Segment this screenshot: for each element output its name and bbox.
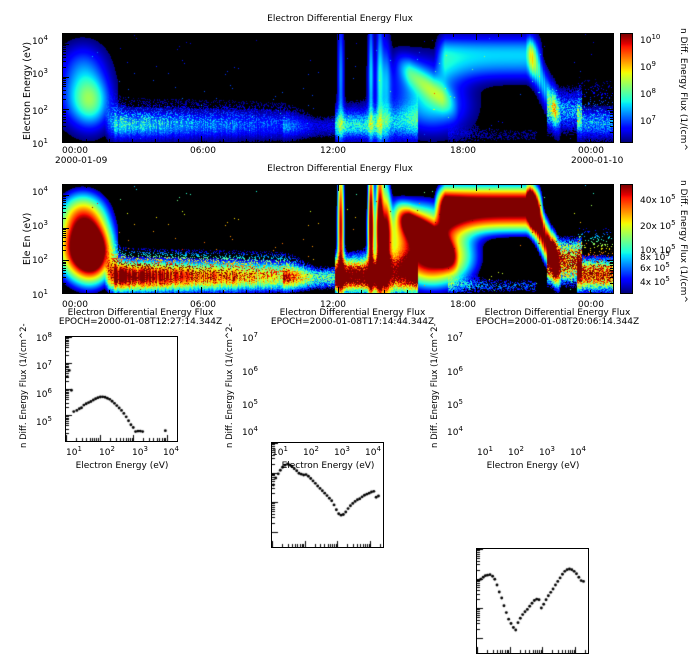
- spectrum-3-subtitle: EPOCH=2000-01-08T20:06:14.344Z: [455, 317, 660, 327]
- axis-tick: [476, 185, 477, 191]
- axis-tick: [361, 34, 362, 37]
- axis-tick: [607, 142, 613, 143]
- axis-tick: [610, 229, 613, 230]
- axis-tick: [610, 237, 613, 238]
- spectrum-3-xtick-3: 103: [539, 445, 555, 458]
- axis-tick: [610, 263, 613, 264]
- spectrum-3-ytick-4: 104: [447, 425, 463, 438]
- axis-tick: [63, 235, 66, 236]
- axis-tick: [610, 122, 613, 123]
- axis-tick: [63, 218, 66, 219]
- axis-tick: [109, 139, 110, 142]
- axis-tick: [338, 136, 339, 142]
- axis-tick: [610, 86, 613, 87]
- spectrum-1-xlabel: Electron Energy (eV): [62, 461, 182, 471]
- spectrum-3-ytick-6: 106: [447, 365, 463, 378]
- axis-tick: [610, 205, 613, 206]
- spectrum-3-panel[interactable]: [476, 548, 589, 654]
- axis-tick: [610, 235, 613, 236]
- axis-tick: [246, 185, 247, 188]
- axis-tick: [453, 290, 454, 293]
- mid-ytick-2: 102: [32, 253, 48, 266]
- spectrum-2-ytick-5: 105: [242, 398, 258, 411]
- axis-tick: [315, 139, 316, 142]
- axis-tick: [269, 34, 270, 37]
- axis-tick: [610, 273, 613, 274]
- axis-tick: [476, 136, 477, 142]
- axis-tick: [610, 277, 613, 278]
- spectrum-1-canvas[interactable]: [66, 337, 177, 441]
- axis-tick: [338, 287, 339, 293]
- axis-tick: [63, 78, 66, 79]
- axis-tick: [338, 34, 339, 40]
- axis-tick: [610, 114, 613, 115]
- axis-tick: [201, 34, 202, 40]
- spectrum-1-ylabel: n Diff. Energy Flux (1/(cm^2-: [19, 323, 29, 448]
- axis-tick: [86, 139, 87, 142]
- axis-tick: [63, 250, 66, 251]
- axis-tick: [63, 273, 66, 274]
- axis-tick: [544, 290, 545, 293]
- top-xdate-left: 2000-01-09: [55, 156, 107, 166]
- axis-tick: [63, 237, 66, 238]
- axis-tick: [63, 293, 69, 294]
- axis-tick: [132, 34, 133, 37]
- axis-tick: [476, 287, 477, 293]
- top-ytick-4: 104: [32, 34, 48, 47]
- axis-tick: [407, 34, 408, 37]
- axis-tick: [613, 34, 614, 40]
- axis-tick: [544, 34, 545, 37]
- axis-tick: [63, 202, 66, 203]
- top-colorbar-canvas: [621, 34, 632, 142]
- axis-tick: [610, 47, 613, 48]
- axis-tick: [544, 139, 545, 142]
- axis-tick: [430, 290, 431, 293]
- spectrum-1-xtick-1: 101: [66, 445, 82, 458]
- top-xdate-right: 2000-01-10: [571, 156, 623, 166]
- axis-tick: [63, 277, 66, 278]
- spectrum-1-xtick-2: 102: [99, 445, 115, 458]
- axis-tick: [610, 84, 613, 85]
- axis-tick: [610, 265, 613, 266]
- axis-tick: [607, 195, 613, 196]
- axis-tick: [607, 44, 613, 45]
- spectrum-2-ytick-4: 104: [242, 425, 258, 438]
- axis-tick: [155, 290, 156, 293]
- axis-tick: [384, 290, 385, 293]
- spectrum-2-canvas[interactable]: [272, 443, 383, 547]
- middle-spectrogram-panel[interactable]: [62, 184, 614, 294]
- spectrum-3-xtick-4: 104: [570, 445, 586, 458]
- axis-tick: [567, 185, 568, 188]
- axis-tick: [63, 229, 66, 230]
- axis-tick: [63, 241, 66, 242]
- spectrum-2-xlabel: Electron Energy (eV): [268, 461, 388, 471]
- axis-tick: [63, 51, 66, 52]
- axis-tick: [63, 265, 66, 266]
- axis-tick: [384, 185, 385, 188]
- axis-tick: [178, 34, 179, 37]
- axis-tick: [521, 139, 522, 142]
- axis-tick: [315, 185, 316, 188]
- axis-tick: [610, 54, 613, 55]
- axis-tick: [63, 82, 66, 83]
- axis-tick: [610, 57, 613, 58]
- axis-tick: [63, 47, 66, 48]
- axis-tick: [498, 185, 499, 188]
- axis-tick: [476, 34, 477, 40]
- axis-tick: [607, 260, 613, 261]
- mid-ytick-4: 104: [32, 185, 48, 198]
- axis-tick: [590, 34, 591, 37]
- top-xtick-0: 00:00: [62, 146, 88, 156]
- axis-tick: [246, 290, 247, 293]
- axis-tick: [223, 185, 224, 188]
- axis-tick: [610, 132, 613, 133]
- top-xtick-2: 12:00: [320, 146, 346, 156]
- axis-tick: [610, 78, 613, 79]
- mid-cbtick-6: 6x 105: [640, 261, 670, 274]
- axis-tick: [384, 34, 385, 37]
- axis-tick: [63, 61, 66, 62]
- spectrum-1-panel[interactable]: [65, 336, 178, 442]
- axis-tick: [63, 112, 66, 113]
- middle-spectrogram-canvas[interactable]: [63, 185, 613, 293]
- top-ytick-1: 101: [32, 137, 48, 150]
- axis-tick: [246, 139, 247, 142]
- axis-tick: [498, 290, 499, 293]
- top-panel-ylabel: Electron Energy (eV): [22, 42, 33, 140]
- axis-tick: [610, 45, 613, 46]
- axis-tick: [63, 205, 66, 206]
- axis-tick: [63, 262, 66, 263]
- axis-tick: [610, 119, 613, 120]
- spectrum-2-ytick-6: 106: [242, 365, 258, 378]
- spectrum-1-xtick-3: 103: [132, 445, 148, 458]
- axis-tick: [315, 290, 316, 293]
- axis-tick: [63, 270, 66, 271]
- middle-colorbar[interactable]: [620, 184, 633, 294]
- axis-tick: [63, 111, 66, 112]
- axis-tick: [613, 185, 614, 191]
- axis-tick: [63, 260, 69, 261]
- axis-tick: [109, 34, 110, 37]
- axis-tick: [610, 212, 613, 213]
- axis-tick: [430, 185, 431, 188]
- axis-tick: [63, 136, 64, 142]
- axis-tick: [292, 185, 293, 188]
- axis-tick: [63, 90, 66, 91]
- axis-tick: [610, 231, 613, 232]
- top-cbtick-10: 1010: [640, 33, 660, 46]
- axis-tick: [610, 218, 613, 219]
- top-xtick-3: 18:00: [450, 146, 476, 156]
- axis-tick: [338, 185, 339, 191]
- axis-tick: [610, 51, 613, 52]
- axis-tick: [63, 57, 66, 58]
- axis-tick: [610, 196, 613, 197]
- axis-tick: [610, 67, 613, 68]
- axis-tick: [521, 185, 522, 188]
- axis-tick: [63, 200, 66, 201]
- axis-tick: [63, 287, 64, 293]
- spectrum-2-xtick-2: 102: [303, 445, 319, 458]
- axis-tick: [607, 109, 613, 110]
- spectrum-3-xlabel: Electron Energy (eV): [473, 461, 593, 471]
- axis-tick: [610, 250, 613, 251]
- axis-tick: [63, 114, 66, 115]
- axis-tick: [63, 198, 66, 199]
- axis-tick: [63, 212, 66, 213]
- axis-tick: [109, 290, 110, 293]
- axis-tick: [521, 34, 522, 37]
- axis-tick: [590, 139, 591, 142]
- axis-tick: [132, 139, 133, 142]
- axis-tick: [63, 109, 69, 110]
- axis-tick: [269, 185, 270, 188]
- spectrum-3-xtick-1: 101: [477, 445, 493, 458]
- spectrum-1-ytick-6: 106: [36, 387, 52, 400]
- axis-tick: [610, 80, 613, 81]
- axis-tick: [63, 142, 69, 143]
- axis-tick: [63, 44, 69, 45]
- axis-tick: [610, 283, 613, 284]
- top-cbtick-8: 108: [640, 87, 656, 100]
- axis-tick: [63, 99, 66, 100]
- spectrum-1-ytick-8: 108: [36, 331, 52, 344]
- axis-tick: [63, 117, 66, 118]
- spectrum-3-ytick-5: 105: [447, 398, 463, 411]
- axis-tick: [63, 268, 66, 269]
- axis-tick: [246, 34, 247, 37]
- axis-tick: [361, 185, 362, 188]
- top-spectrogram-panel[interactable]: [62, 33, 614, 143]
- axis-tick: [223, 290, 224, 293]
- axis-tick: [223, 139, 224, 142]
- axis-tick: [607, 228, 613, 229]
- axis-tick: [610, 90, 613, 91]
- mid-cbtick-40: 40x 105: [640, 193, 676, 206]
- axis-tick: [610, 270, 613, 271]
- axis-tick: [63, 132, 66, 133]
- axis-tick: [292, 34, 293, 37]
- axis-tick: [155, 185, 156, 188]
- axis-tick: [315, 34, 316, 37]
- axis-tick: [361, 290, 362, 293]
- top-ytick-3: 103: [32, 67, 48, 80]
- axis-tick: [63, 231, 66, 232]
- axis-tick: [109, 185, 110, 188]
- axis-tick: [361, 139, 362, 142]
- axis-tick: [63, 196, 66, 197]
- axis-tick: [63, 195, 69, 196]
- axis-tick: [86, 185, 87, 188]
- spectrum-1-subtitle: EPOCH=2000-01-08T12:27:14.344Z: [38, 317, 243, 327]
- axis-tick: [590, 185, 591, 188]
- axis-tick: [610, 233, 613, 234]
- axis-tick: [610, 99, 613, 100]
- axis-tick: [567, 34, 568, 37]
- spectrum-2-ylabel: n Diff. Energy Flux (1/(cm^2-: [225, 323, 235, 448]
- axis-tick: [430, 139, 431, 142]
- axis-tick: [63, 54, 66, 55]
- axis-tick: [63, 245, 66, 246]
- axis-tick: [613, 287, 614, 293]
- axis-tick: [63, 283, 66, 284]
- axis-tick: [63, 122, 66, 123]
- mid-cbtick-4: 4x 105: [640, 275, 670, 288]
- axis-tick: [610, 198, 613, 199]
- mid-ytick-1: 101: [32, 288, 48, 301]
- middle-colorbar-canvas: [621, 185, 632, 293]
- axis-tick: [63, 228, 69, 229]
- axis-tick: [132, 290, 133, 293]
- axis-tick: [610, 126, 613, 127]
- axis-tick: [63, 80, 66, 81]
- axis-tick: [63, 84, 66, 85]
- axis-tick: [63, 94, 66, 95]
- axis-tick: [178, 290, 179, 293]
- axis-tick: [498, 34, 499, 37]
- top-colorbar[interactable]: [620, 33, 633, 143]
- axis-tick: [178, 185, 179, 188]
- spectrum-1-ytick-5: 105: [36, 415, 52, 428]
- axis-tick: [223, 34, 224, 37]
- axis-tick: [63, 86, 66, 87]
- axis-tick: [610, 61, 613, 62]
- axis-tick: [521, 290, 522, 293]
- top-colorbar-label: n Diff. Energy Flux (1/(cm^: [678, 28, 688, 151]
- axis-tick: [613, 136, 614, 142]
- axis-tick: [610, 241, 613, 242]
- axis-tick: [453, 139, 454, 142]
- axis-tick: [607, 293, 613, 294]
- axis-tick: [384, 139, 385, 142]
- spectrum-3-ylabel: n Diff. Energy Flux (1/(cm^2-: [430, 323, 440, 448]
- axis-tick: [63, 119, 66, 120]
- axis-tick: [610, 200, 613, 201]
- axis-tick: [269, 139, 270, 142]
- axis-tick: [178, 139, 179, 142]
- spectrum-3-ytick-7: 107: [447, 331, 463, 344]
- spectrum-1-xtick-4: 104: [163, 445, 179, 458]
- axis-tick: [610, 245, 613, 246]
- axis-tick: [610, 117, 613, 118]
- axis-tick: [155, 139, 156, 142]
- axis-tick: [201, 287, 202, 293]
- axis-tick: [407, 290, 408, 293]
- axis-tick: [63, 185, 64, 191]
- axis-tick: [610, 262, 613, 263]
- axis-tick: [453, 34, 454, 37]
- axis-tick: [453, 185, 454, 188]
- middle-panel-title: Electron Differential Energy Flux: [190, 164, 490, 174]
- axis-tick: [201, 185, 202, 191]
- axis-tick: [610, 94, 613, 95]
- axis-tick: [610, 111, 613, 112]
- axis-tick: [63, 45, 66, 46]
- axis-tick: [610, 112, 613, 113]
- middle-colorbar-label: n Diff. Energy Flux (1/(cm^: [678, 180, 688, 303]
- axis-tick: [610, 208, 613, 209]
- axis-tick: [610, 82, 613, 83]
- axis-tick: [155, 34, 156, 37]
- spectrum-2-xtick-1: 101: [272, 445, 288, 458]
- axis-tick: [63, 126, 66, 127]
- axis-tick: [63, 263, 66, 264]
- axis-tick: [607, 77, 613, 78]
- top-ytick-2: 102: [32, 104, 48, 117]
- spectrum-3-canvas[interactable]: [477, 549, 588, 653]
- axis-tick: [86, 34, 87, 37]
- axis-tick: [407, 185, 408, 188]
- spectrum-2-xtick-3: 103: [334, 445, 350, 458]
- axis-tick: [590, 290, 591, 293]
- axis-tick: [269, 290, 270, 293]
- top-xtick-1: 06:00: [190, 146, 216, 156]
- axis-tick: [63, 34, 64, 40]
- axis-tick: [63, 77, 69, 78]
- mid-ytick-3: 103: [32, 219, 48, 232]
- axis-tick: [63, 233, 66, 234]
- axis-tick: [201, 136, 202, 142]
- spectrum-2-subtitle: EPOCH=2000-01-08T17:14:44.344Z: [250, 317, 455, 327]
- axis-tick: [407, 139, 408, 142]
- top-cbtick-7: 107: [640, 114, 656, 127]
- spectrum-2-ytick-7: 107: [242, 331, 258, 344]
- axis-tick: [567, 290, 568, 293]
- axis-tick: [498, 139, 499, 142]
- axis-tick: [430, 34, 431, 37]
- axis-tick: [63, 49, 66, 50]
- spectrum-3-xtick-2: 102: [508, 445, 524, 458]
- axis-tick: [63, 67, 66, 68]
- axis-tick: [610, 268, 613, 269]
- mid-cbtick-20: 20x 105: [640, 219, 676, 232]
- axis-tick: [292, 139, 293, 142]
- top-panel-title: Electron Differential Energy Flux: [190, 14, 490, 24]
- axis-tick: [567, 139, 568, 142]
- spectrum-2-xtick-4: 104: [365, 445, 381, 458]
- axis-tick: [86, 290, 87, 293]
- top-cbtick-9: 109: [640, 60, 656, 73]
- axis-tick: [63, 208, 66, 209]
- axis-tick: [544, 185, 545, 188]
- top-spectrogram-canvas[interactable]: [63, 34, 613, 142]
- axis-tick: [610, 49, 613, 50]
- top-xtick-4: 00:00: [578, 146, 604, 156]
- axis-tick: [292, 290, 293, 293]
- axis-tick: [132, 185, 133, 188]
- spectrum-1-ytick-7: 107: [36, 359, 52, 372]
- axis-tick: [610, 202, 613, 203]
